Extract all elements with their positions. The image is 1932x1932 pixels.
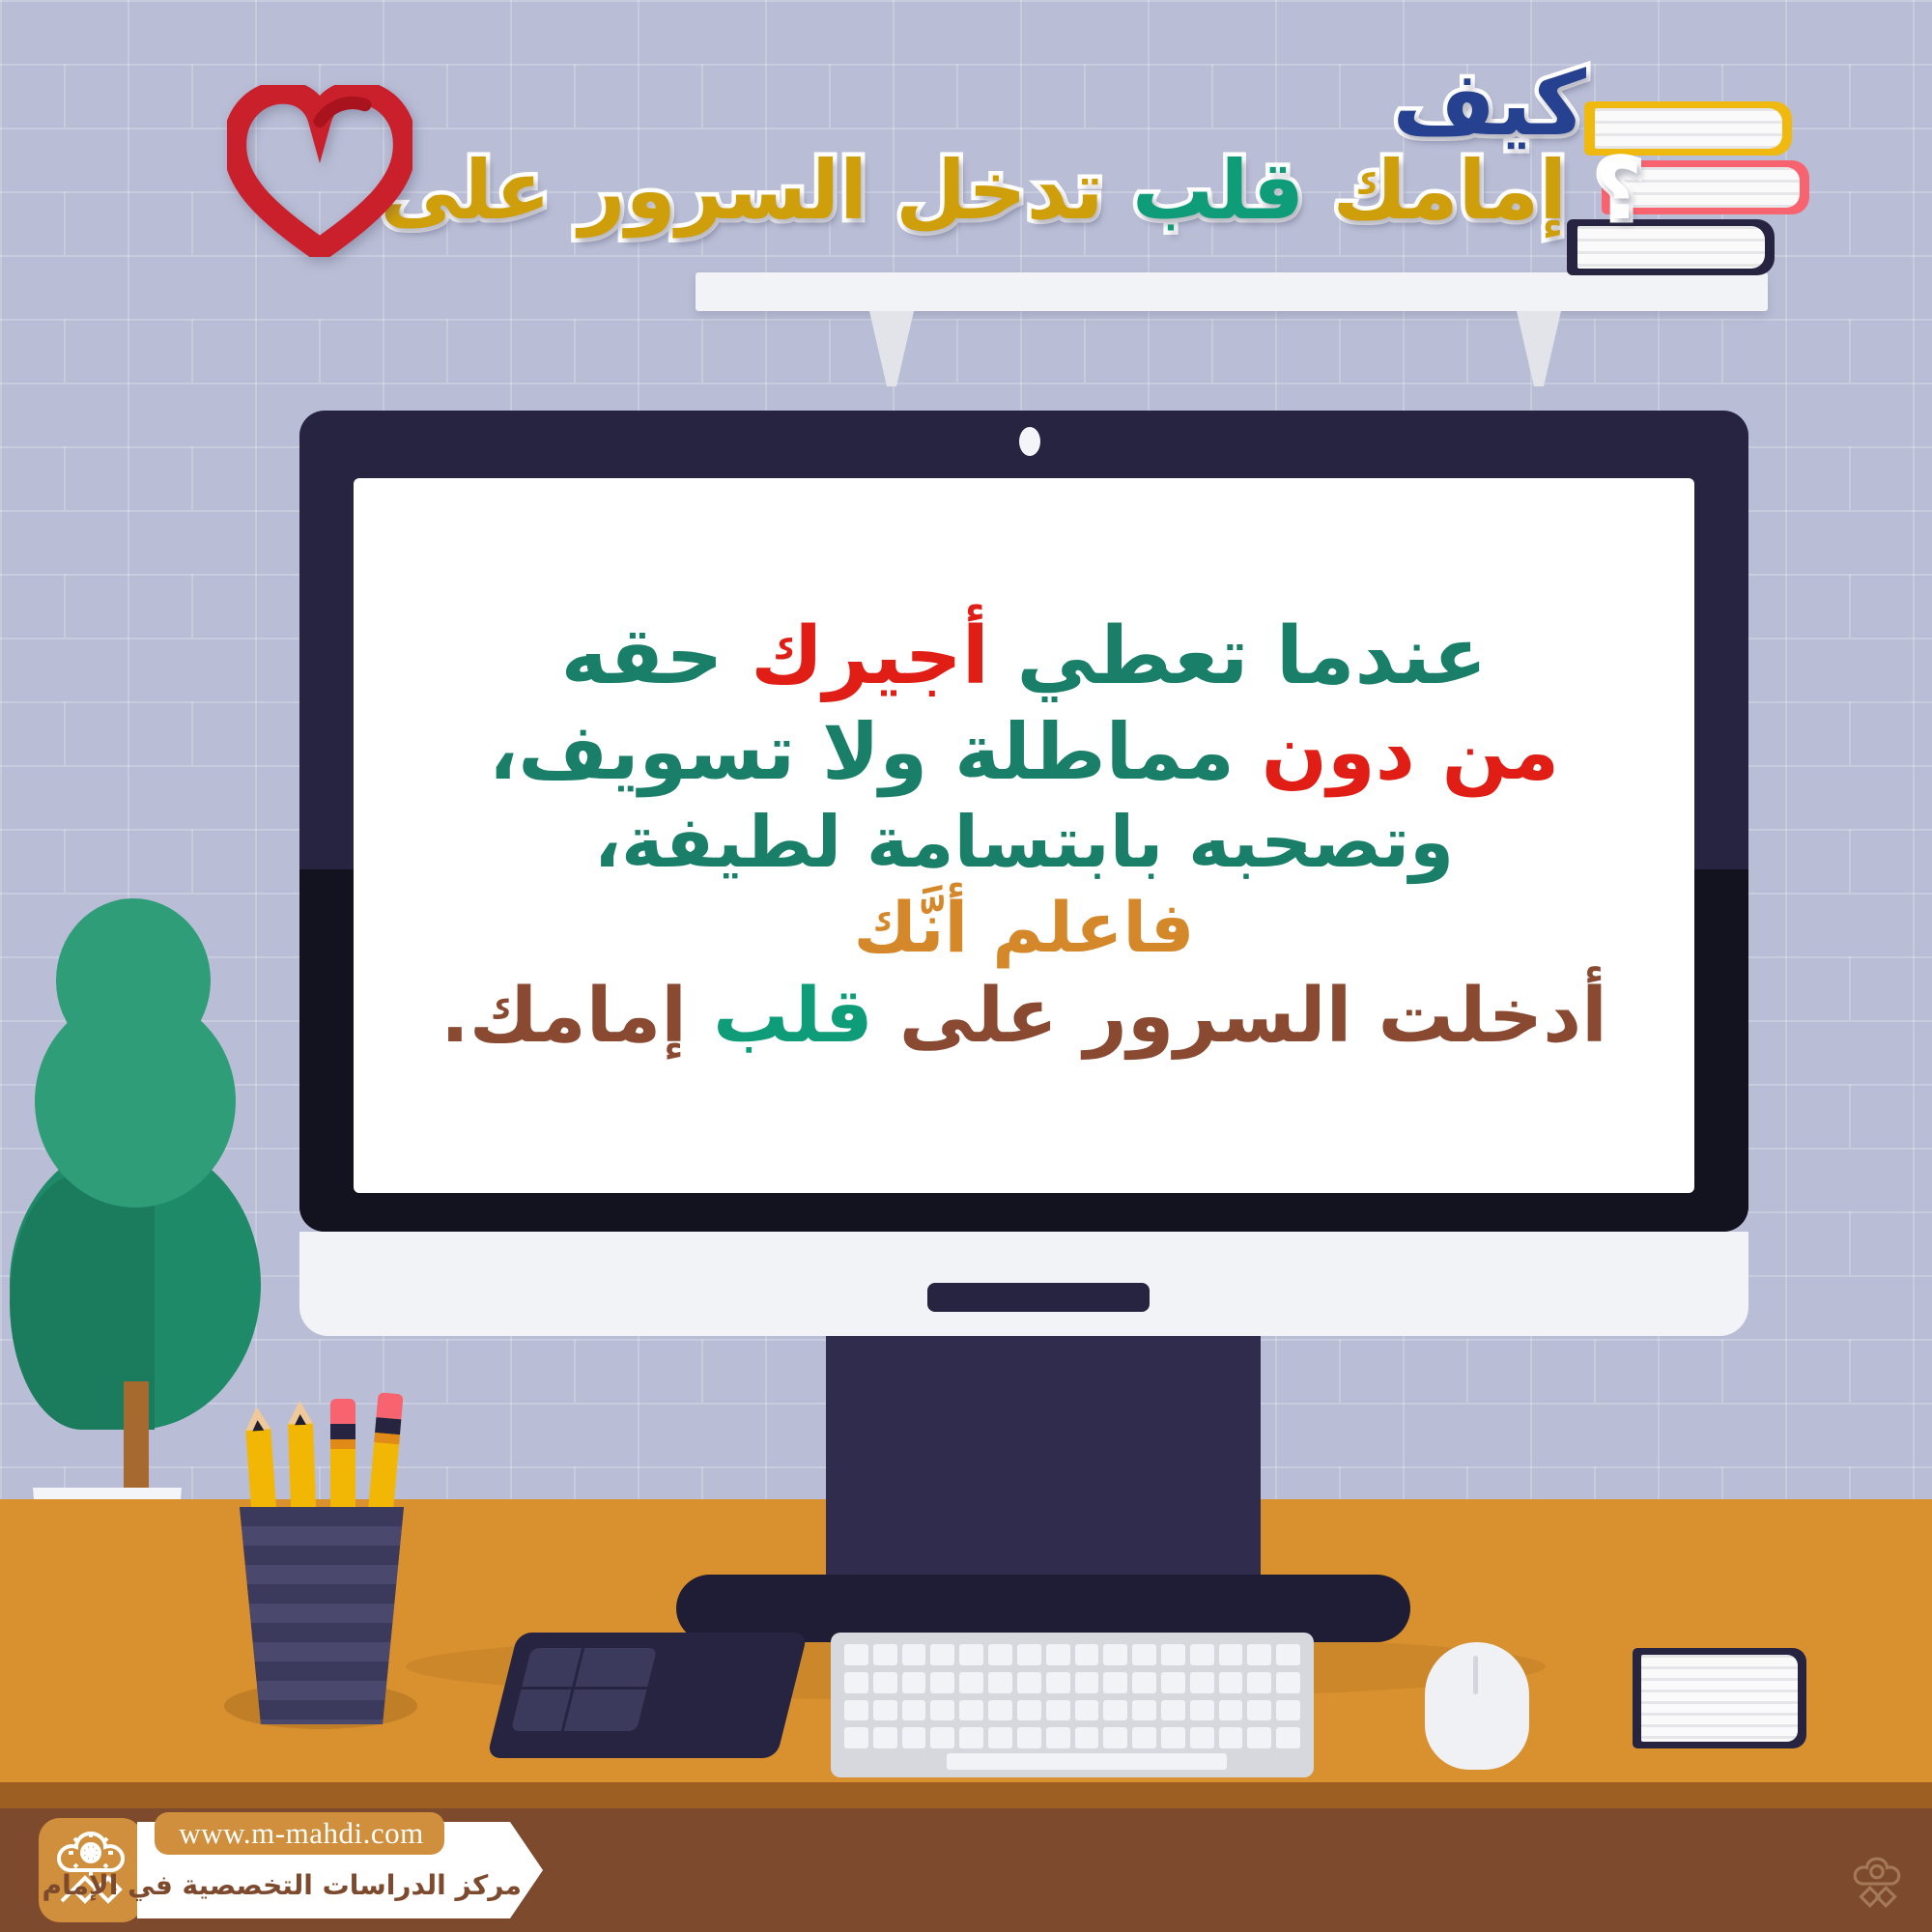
headline-question-mark: ؟ (1595, 143, 1642, 238)
line1-seg3: حقه (561, 611, 751, 702)
headline-phrase-tadkhul: تدخل السرور على (380, 143, 1103, 238)
line3-seg1: وتصحبه بابتسامة لطيفة، (594, 801, 1454, 884)
tablet-touch-area (511, 1648, 657, 1731)
keyboard-row (844, 1727, 1300, 1748)
headline-word-imamak: إمامك (1332, 143, 1567, 238)
keyboard (831, 1633, 1314, 1777)
screen-text-line-1: عندما تعطي أجيرك حقه (386, 609, 1662, 705)
ferrule-band (374, 1433, 400, 1444)
monitor-chin-notch (927, 1283, 1150, 1312)
keyboard-row (844, 1672, 1300, 1693)
screen-text-line-5: أدخلت السرور على قلب إمامك. (386, 971, 1662, 1063)
eraser-icon (376, 1392, 403, 1419)
poster-canvas: كيف ؟ إمامك قلب تدخل السرور على عندما تع… (0, 0, 1932, 1932)
book-pages (1641, 1655, 1798, 1742)
footer-logo: www.m-mahdi.com مركز الدراسات التخصصية ف… (29, 1808, 551, 1932)
headline-word-qalb: قلب (1132, 143, 1304, 238)
line2-seg1: من دون (1262, 707, 1559, 797)
keyboard-row (844, 1700, 1300, 1721)
line5-seg2: قلب (713, 973, 872, 1060)
headline-line-2: ؟ إمامك قلب تدخل السرور على (380, 150, 1642, 231)
pencil-tip-icon (244, 1406, 271, 1431)
keyboard-row (844, 1644, 1300, 1665)
organization-name: مركز الدراسات التخصصية في الإمام المهدي (147, 1861, 522, 1911)
screen-text-line-3: وتصحبه بابتسامة لطيفة، (386, 799, 1662, 886)
graphics-tablet (487, 1633, 808, 1758)
heart-icon (227, 85, 412, 257)
desk-book (1633, 1648, 1806, 1748)
line1-seg2: أجيرك (751, 611, 989, 702)
ferrule (330, 1424, 355, 1439)
line2-seg2: مماطلة ولا تسويف، (489, 707, 1262, 797)
keyboard-rows (844, 1644, 1300, 1748)
webcam-icon (1019, 427, 1040, 456)
corner-emblem-icon (1847, 1853, 1907, 1913)
line5-seg1: أدخلت السرور على (873, 973, 1607, 1060)
monitor-stand-neck (826, 1336, 1261, 1602)
plant-foliage-top (56, 898, 211, 1063)
screen-text-line-4: فاعلم أنَّك (386, 886, 1662, 971)
mouse (1425, 1642, 1529, 1770)
monitor-screen: عندما تعطي أجيرك حقه من دون مماطلة ولا ت… (354, 478, 1694, 1193)
ferrule-band (330, 1439, 355, 1449)
pencil-cup (240, 1507, 404, 1724)
eraser-icon (330, 1399, 355, 1424)
website-url[interactable]: www.m-mahdi.com (166, 1816, 437, 1851)
spacebar-key (947, 1753, 1227, 1770)
line1-seg1: عندما تعطي (989, 611, 1487, 702)
headline: كيف ؟ إمامك قلب تدخل السرور على (638, 39, 1604, 261)
line5-seg3: إمامك. (440, 973, 713, 1060)
wall-shelf (696, 272, 1768, 311)
line4-seg1: فاعلم أنَّك (853, 887, 1194, 968)
pencil-tip-icon (287, 1401, 313, 1425)
screen-text-line-2: من دون مماطلة ولا تسويف، (386, 705, 1662, 800)
headline-line-1: كيف (1392, 60, 1586, 149)
